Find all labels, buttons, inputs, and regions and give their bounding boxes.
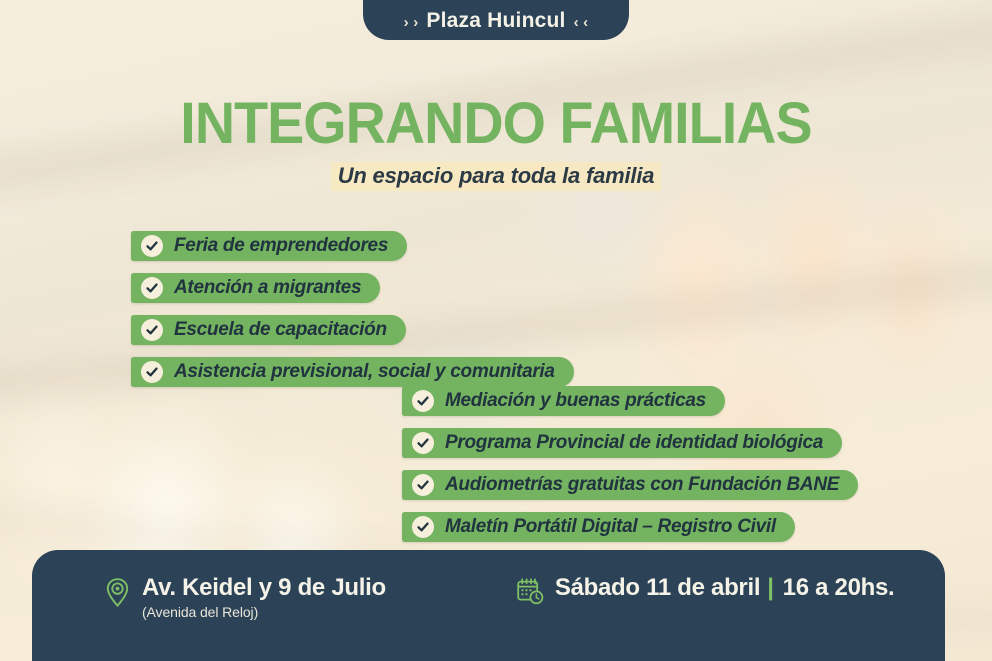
page-title: INTEGRANDO FAMILIAS	[20, 94, 972, 153]
check-icon	[141, 235, 163, 257]
list-item-label: Escuela de capacitación	[174, 319, 387, 341]
location-badge-label: Plaza Huincul	[426, 9, 565, 33]
datetime-separator: |	[767, 574, 773, 602]
chevron-right-icon: › ›	[404, 15, 419, 30]
event-time: 16 a 20hs.	[783, 574, 895, 601]
check-icon	[412, 390, 434, 412]
services-list-primary: Feria de emprendedores Atención a migran…	[131, 231, 574, 387]
venue-block: Av. Keidel y 9 de Julio (Avenida del Rel…	[104, 574, 386, 620]
list-item: Audiometrías gratuitas con Fundación BAN…	[402, 470, 858, 500]
check-icon	[412, 474, 434, 496]
list-item: Escuela de capacitación	[131, 315, 406, 345]
list-item-label: Maletín Portátil Digital – Registro Civi…	[445, 516, 776, 538]
venue-text: Av. Keidel y 9 de Julio (Avenida del Rel…	[142, 574, 386, 620]
event-date: Sábado 11 de abril	[555, 574, 760, 601]
list-item: Programa Provincial de identidad biológi…	[402, 428, 842, 458]
list-item-label: Feria de emprendedores	[174, 235, 388, 257]
list-item: Mediación y buenas prácticas	[402, 386, 725, 416]
location-badge: › › Plaza Huincul ‹ ‹	[363, 0, 629, 40]
location-pin-icon	[104, 574, 131, 608]
list-item-label: Asistencia previsional, social y comunit…	[174, 361, 555, 383]
check-icon	[141, 277, 163, 299]
list-item-label: Programa Provincial de identidad biológi…	[445, 432, 823, 454]
list-item: Asistencia previsional, social y comunit…	[131, 357, 574, 387]
list-item-label: Mediación y buenas prácticas	[445, 390, 706, 412]
list-item: Atención a migrantes	[131, 273, 380, 303]
footer-info-bar: Av. Keidel y 9 de Julio (Avenida del Rel…	[32, 550, 945, 661]
check-icon	[141, 361, 163, 383]
calendar-clock-icon	[516, 574, 544, 606]
check-icon	[141, 319, 163, 341]
list-item-label: Audiometrías gratuitas con Fundación BAN…	[445, 474, 839, 496]
list-item: Feria de emprendedores	[131, 231, 407, 261]
check-icon	[412, 432, 434, 454]
page-subtitle: Un espacio para toda la familia	[331, 162, 662, 191]
check-icon	[412, 516, 434, 538]
venue-address: Av. Keidel y 9 de Julio	[142, 574, 386, 602]
datetime-block: Sábado 11 de abril|16 a 20hs.	[516, 574, 895, 606]
list-item: Maletín Portátil Digital – Registro Civi…	[402, 512, 795, 542]
list-item-label: Atención a migrantes	[174, 277, 361, 299]
poster: › › Plaza Huincul ‹ ‹ INTEGRANDO FAMILIA…	[0, 0, 992, 661]
subtitle-wrapper: Un espacio para toda la familia	[0, 162, 992, 191]
chevron-left-icon: ‹ ‹	[574, 15, 589, 30]
datetime-text: Sábado 11 de abril|16 a 20hs.	[555, 574, 895, 602]
services-list-secondary: Mediación y buenas prácticas Programa Pr…	[402, 386, 858, 542]
location-badge-inner: › › Plaza Huincul ‹ ‹	[404, 9, 589, 33]
venue-address-note: (Avenida del Reloj)	[142, 604, 386, 620]
